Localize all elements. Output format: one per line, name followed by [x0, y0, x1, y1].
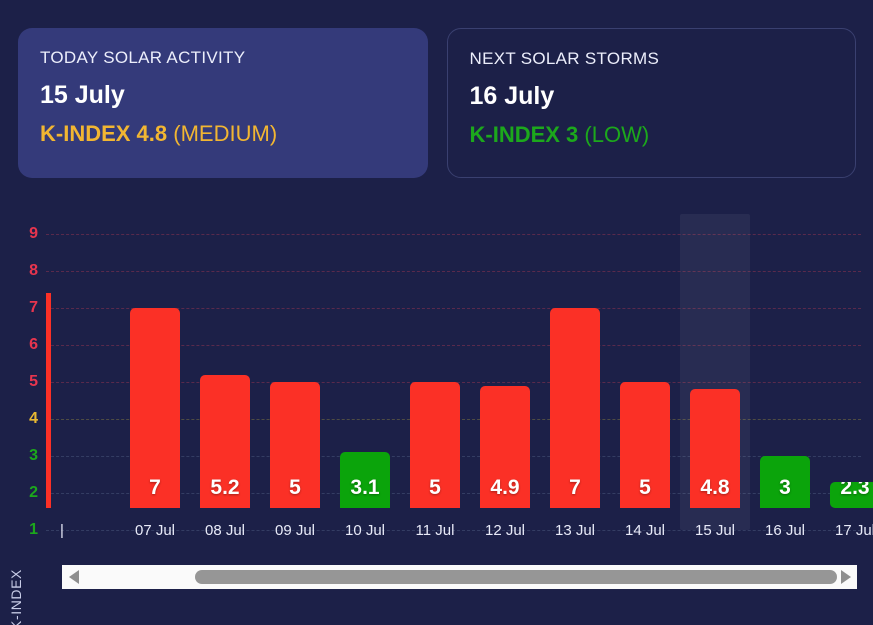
y-axis: 987654321 — [0, 200, 46, 545]
x-tick-label: 15 Jul — [680, 522, 750, 539]
bar-value-label: 5 — [410, 476, 460, 500]
y-tick-label: 4 — [8, 410, 38, 428]
bar[interactable]: 4.8 — [690, 389, 740, 508]
y-tick-label: 2 — [8, 484, 38, 502]
x-tick-label: | — [56, 522, 68, 539]
x-tick-label: 14 Jul — [610, 522, 680, 539]
bar[interactable]: 5.2 — [200, 375, 250, 508]
bar[interactable]: 3.1 — [340, 452, 390, 508]
card-today-solar-activity[interactable]: TODAY SOLAR ACTIVITY 15 July K-INDEX 4.8… — [18, 28, 428, 178]
x-tick-label: 07 Jul — [120, 522, 190, 539]
bar[interactable] — [46, 293, 51, 508]
card-title: TODAY SOLAR ACTIVITY — [40, 48, 406, 68]
x-tick-label: 10 Jul — [330, 522, 400, 539]
bar[interactable]: 7 — [130, 308, 180, 508]
card-kindex-level: (LOW) — [584, 122, 649, 147]
x-tick-label: 12 Jul — [470, 522, 540, 539]
bar-value-label: 3 — [760, 476, 810, 500]
bar[interactable]: 5 — [410, 382, 460, 508]
bar-value-label: 7 — [130, 476, 180, 500]
card-title: NEXT SOLAR STORMS — [470, 49, 834, 69]
bar-value-label: 4.8 — [690, 476, 740, 500]
card-kindex-line: K-INDEX 4.8 (MEDIUM) — [40, 121, 406, 147]
bar[interactable]: 5 — [270, 382, 320, 508]
x-tick-label: 08 Jul — [190, 522, 260, 539]
bar[interactable]: 3 — [760, 456, 810, 508]
summary-cards: TODAY SOLAR ACTIVITY 15 July K-INDEX 4.8… — [18, 28, 856, 178]
y-tick-label: 6 — [8, 336, 38, 354]
x-axis: |07 Jul08 Jul09 Jul10 Jul11 Jul12 Jul13 … — [46, 522, 873, 550]
bar-value-label: 2.3 — [830, 482, 873, 500]
x-tick-label: 16 Jul — [750, 522, 820, 539]
y-tick-label: 8 — [8, 262, 38, 280]
plot-area: 75.253.154.9754.832.3 — [46, 200, 873, 545]
bar-value-label: 5.2 — [200, 476, 250, 500]
scrollbar-thumb[interactable] — [195, 570, 837, 584]
triangle-right-icon[interactable] — [837, 565, 853, 589]
card-kindex-value: K-INDEX 3 — [470, 122, 579, 147]
x-tick-label: 13 Jul — [540, 522, 610, 539]
bar-value-label: 3.1 — [340, 476, 390, 500]
bar[interactable]: 2.3 — [830, 482, 873, 508]
y-tick-label: 3 — [8, 447, 38, 465]
bar[interactable]: 7 — [550, 308, 600, 508]
card-kindex-line: K-INDEX 3 (LOW) — [470, 122, 834, 148]
card-next-solar-storms[interactable]: NEXT SOLAR STORMS 16 July K-INDEX 3 (LOW… — [447, 28, 857, 178]
triangle-left-icon[interactable] — [66, 565, 82, 589]
y-tick-label: 1 — [8, 521, 38, 539]
x-tick-label: 17 Jul — [820, 522, 873, 539]
x-tick-label: 11 Jul — [400, 522, 470, 539]
card-date: 16 July — [470, 81, 834, 111]
y-tick-label: 7 — [8, 299, 38, 317]
card-kindex-value: K-INDEX 4.8 — [40, 121, 167, 146]
bar[interactable]: 5 — [620, 382, 670, 508]
bar-value-label: 5 — [620, 476, 670, 500]
y-tick-label: 9 — [8, 225, 38, 243]
x-tick-label: 09 Jul — [260, 522, 330, 539]
scrollbar-track[interactable] — [82, 565, 837, 589]
bar-value-label: 4.9 — [480, 476, 530, 500]
bar-value-label: 5 — [270, 476, 320, 500]
bar[interactable]: 4.9 — [480, 386, 530, 508]
bar-value-label: 7 — [550, 476, 600, 500]
y-axis-title: K-INDEX — [8, 552, 28, 625]
y-tick-label: 5 — [8, 373, 38, 391]
kindex-bar-chart: 987654321 75.253.154.9754.832.3 |07 Jul0… — [0, 200, 873, 625]
horizontal-scrollbar[interactable] — [62, 565, 857, 589]
card-kindex-level: (MEDIUM) — [173, 121, 277, 146]
card-date: 15 July — [40, 80, 406, 110]
solar-activity-panel: TODAY SOLAR ACTIVITY 15 July K-INDEX 4.8… — [0, 0, 873, 625]
